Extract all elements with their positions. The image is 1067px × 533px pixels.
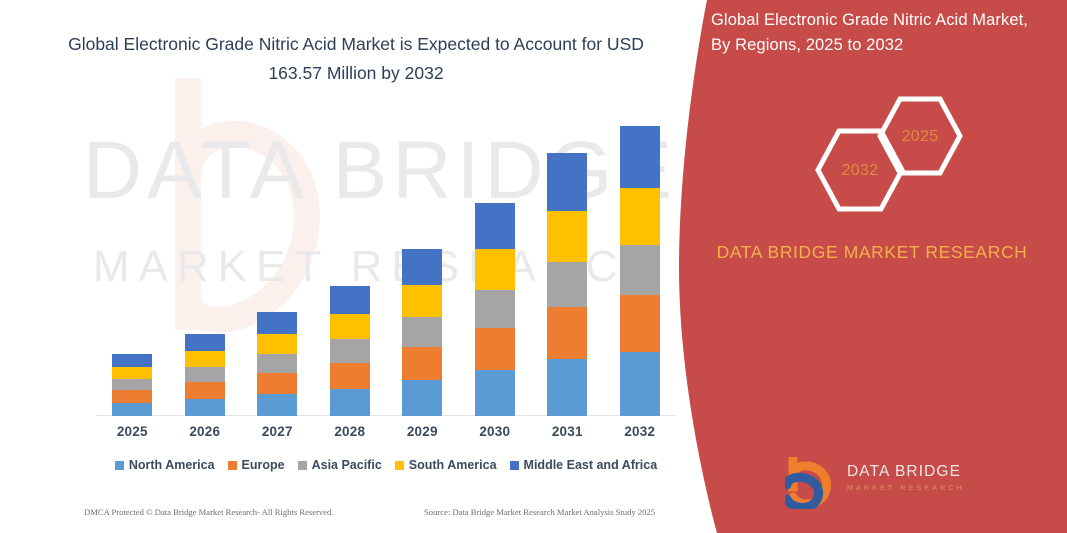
x-axis-label: 2025 bbox=[96, 424, 168, 439]
bar-segment bbox=[330, 314, 370, 339]
bar-segment bbox=[185, 351, 225, 367]
bar-segment bbox=[475, 370, 515, 416]
legend-item[interactable]: Europe bbox=[228, 458, 285, 472]
hexagon-2025: 2025 bbox=[877, 96, 963, 181]
legend-swatch-icon bbox=[298, 461, 307, 470]
legend-label: Middle East and Africa bbox=[524, 458, 658, 472]
logo-title: DATA BRIDGE bbox=[847, 463, 965, 481]
bar-segment bbox=[402, 380, 442, 416]
bar-segment bbox=[620, 188, 660, 245]
bar-segment bbox=[330, 363, 370, 389]
brand-name: DATA BRIDGE MARKET RESEARCH bbox=[697, 238, 1047, 266]
brand-logo: DATA BRIDGE MARKET RESEARCH bbox=[785, 455, 1035, 513]
legend-item[interactable]: North America bbox=[115, 458, 215, 472]
bar-segment bbox=[257, 354, 297, 373]
x-axis-label: 2029 bbox=[386, 424, 458, 439]
bar-segment bbox=[475, 290, 515, 328]
plot-area bbox=[96, 120, 676, 416]
bar-segment bbox=[475, 249, 515, 290]
bar-segment bbox=[402, 317, 442, 347]
bar-segment bbox=[547, 211, 587, 262]
bar-group bbox=[402, 249, 442, 416]
footer: DMCA Protected © Data Bridge Market Rese… bbox=[84, 507, 684, 523]
bar-segment bbox=[547, 307, 587, 359]
bar-segment bbox=[112, 403, 152, 416]
legend-swatch-icon bbox=[510, 461, 519, 470]
footer-source: Source: Data Bridge Market Research Mark… bbox=[424, 507, 655, 517]
brand-panel: Global Electronic Grade Nitric Acid Mark… bbox=[677, 0, 1067, 533]
bar-segment bbox=[185, 399, 225, 416]
bar-group bbox=[547, 153, 587, 416]
x-axis-label: 2032 bbox=[604, 424, 676, 439]
chart-legend: North AmericaEuropeAsia PacificSouth Ame… bbox=[96, 455, 676, 475]
bar-group bbox=[257, 312, 297, 416]
bar-group bbox=[475, 203, 515, 416]
bar-segment bbox=[620, 352, 660, 416]
legend-item[interactable]: Middle East and Africa bbox=[510, 458, 658, 472]
bar-segment bbox=[112, 390, 152, 403]
x-axis-baseline bbox=[96, 415, 676, 416]
bar-segment bbox=[330, 339, 370, 363]
infographic-root: DATA BRIDGE MARKET RESEARCH Global Elect… bbox=[0, 0, 1067, 533]
bar-segment bbox=[257, 334, 297, 354]
chart-title: Global Electronic Grade Nitric Acid Mark… bbox=[56, 30, 656, 88]
legend-label: Europe bbox=[242, 458, 285, 472]
bar-segment bbox=[547, 262, 587, 307]
bar-segment bbox=[620, 126, 660, 188]
bar-segment bbox=[257, 312, 297, 334]
legend-item[interactable]: Asia Pacific bbox=[298, 458, 382, 472]
bar-segment bbox=[402, 249, 442, 285]
bar-segment bbox=[547, 359, 587, 416]
legend-swatch-icon bbox=[395, 461, 404, 470]
brand-panel-content: Global Electronic Grade Nitric Acid Mark… bbox=[677, 0, 1067, 533]
bar-group bbox=[330, 286, 370, 416]
bar-group bbox=[620, 126, 660, 416]
bar-group bbox=[185, 334, 225, 416]
bar-segment bbox=[257, 373, 297, 394]
bar-segment bbox=[475, 328, 515, 370]
legend-swatch-icon bbox=[228, 461, 237, 470]
chart-panel: DATA BRIDGE MARKET RESEARCH Global Elect… bbox=[0, 0, 712, 533]
data-bridge-b-logo-icon bbox=[785, 457, 841, 509]
bar-segment bbox=[620, 295, 660, 352]
bar-segment bbox=[112, 367, 152, 379]
bar-segment bbox=[620, 245, 660, 295]
x-axis-label: 2026 bbox=[169, 424, 241, 439]
bar-segment bbox=[330, 286, 370, 314]
bar-segment bbox=[257, 394, 297, 416]
x-axis-label: 2030 bbox=[459, 424, 531, 439]
bar-segment bbox=[112, 354, 152, 367]
panel-title: Global Electronic Grade Nitric Acid Mark… bbox=[711, 8, 1051, 58]
x-axis-label: 2027 bbox=[241, 424, 313, 439]
legend-item[interactable]: South America bbox=[395, 458, 497, 472]
logo-text-block: DATA BRIDGE MARKET RESEARCH bbox=[847, 463, 965, 492]
x-axis-labels: 20252026202720282029203020312032 bbox=[96, 424, 676, 444]
bar-segment bbox=[547, 153, 587, 211]
footer-copyright: DMCA Protected © Data Bridge Market Rese… bbox=[84, 507, 334, 517]
bar-segment bbox=[402, 285, 442, 317]
legend-label: North America bbox=[129, 458, 215, 472]
bar-segment bbox=[475, 203, 515, 249]
hexagon-2025-label: 2025 bbox=[877, 128, 963, 146]
legend-label: Asia Pacific bbox=[312, 458, 382, 472]
legend-label: South America bbox=[409, 458, 497, 472]
logo-subtitle: MARKET RESEARCH bbox=[847, 485, 965, 492]
x-axis-label: 2028 bbox=[314, 424, 386, 439]
bar-group bbox=[112, 354, 152, 416]
x-axis-label: 2031 bbox=[531, 424, 603, 439]
bar-segment bbox=[185, 367, 225, 382]
bar-segment bbox=[330, 389, 370, 416]
bar-segment bbox=[402, 347, 442, 380]
legend-swatch-icon bbox=[115, 461, 124, 470]
bar-segment bbox=[185, 382, 225, 399]
bar-segment bbox=[112, 379, 152, 390]
bar-segment bbox=[185, 334, 225, 351]
